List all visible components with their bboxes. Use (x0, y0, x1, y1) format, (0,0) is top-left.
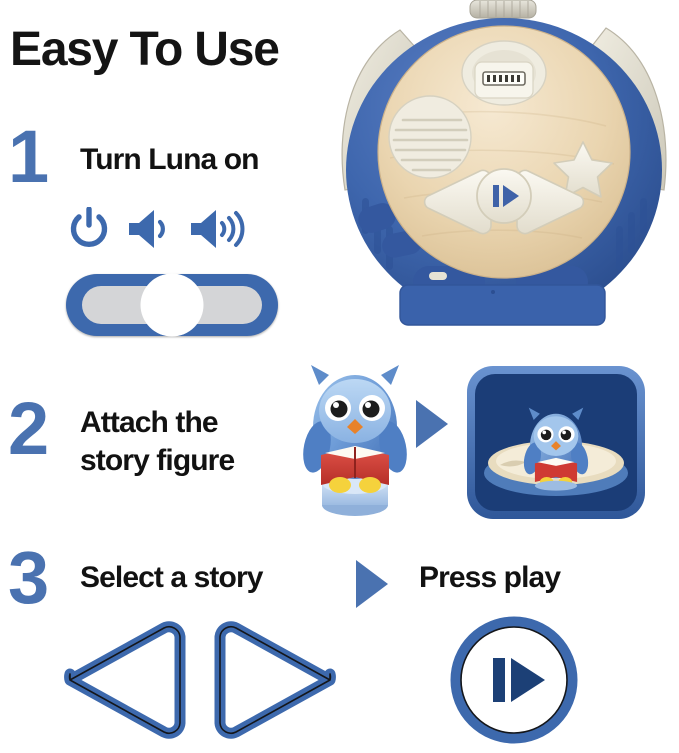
battery-door (400, 285, 605, 325)
play-triangle-icon (511, 658, 545, 702)
story-navigation-buttons (60, 613, 340, 743)
step-1-label: Turn Luna on (80, 142, 259, 177)
infographic-canvas: Easy To Use (0, 0, 679, 753)
previous-triangle-button (70, 627, 180, 733)
device-play-pause-button (477, 169, 531, 223)
step-2-label-line-2: story figure (80, 443, 234, 478)
speaker-grille (389, 96, 471, 178)
owl-attached-result-photo (466, 365, 646, 520)
step-1-icon-row (68, 207, 246, 251)
play-button[interactable] (449, 615, 579, 745)
next-triangle-button (220, 627, 330, 733)
step-3-label-press-play: Press play (419, 560, 560, 595)
figure-connector-slot (462, 41, 546, 105)
power-icon (68, 207, 110, 251)
toggle-track (82, 286, 262, 324)
step-2-label-line-1: Attach the (80, 405, 218, 440)
step-3-number: 3 (8, 541, 47, 615)
step-2-number: 2 (8, 392, 47, 466)
power-volume-toggle-switch[interactable] (66, 274, 278, 336)
volume-high-icon (188, 207, 246, 251)
toggle-knob[interactable] (141, 274, 204, 337)
step-3-label-select-story: Select a story (80, 560, 263, 595)
play-bar-icon (493, 658, 505, 702)
step-2-arrow-right-icon (412, 398, 452, 450)
volume-low-icon (126, 207, 172, 251)
step-1-number: 1 (8, 120, 47, 194)
volume-dial (470, 0, 536, 18)
page-title: Easy To Use (10, 26, 279, 74)
luna-story-player-device (330, 0, 679, 340)
owl-story-figure (295, 355, 415, 525)
step-3-arrow-right-icon (352, 558, 392, 610)
